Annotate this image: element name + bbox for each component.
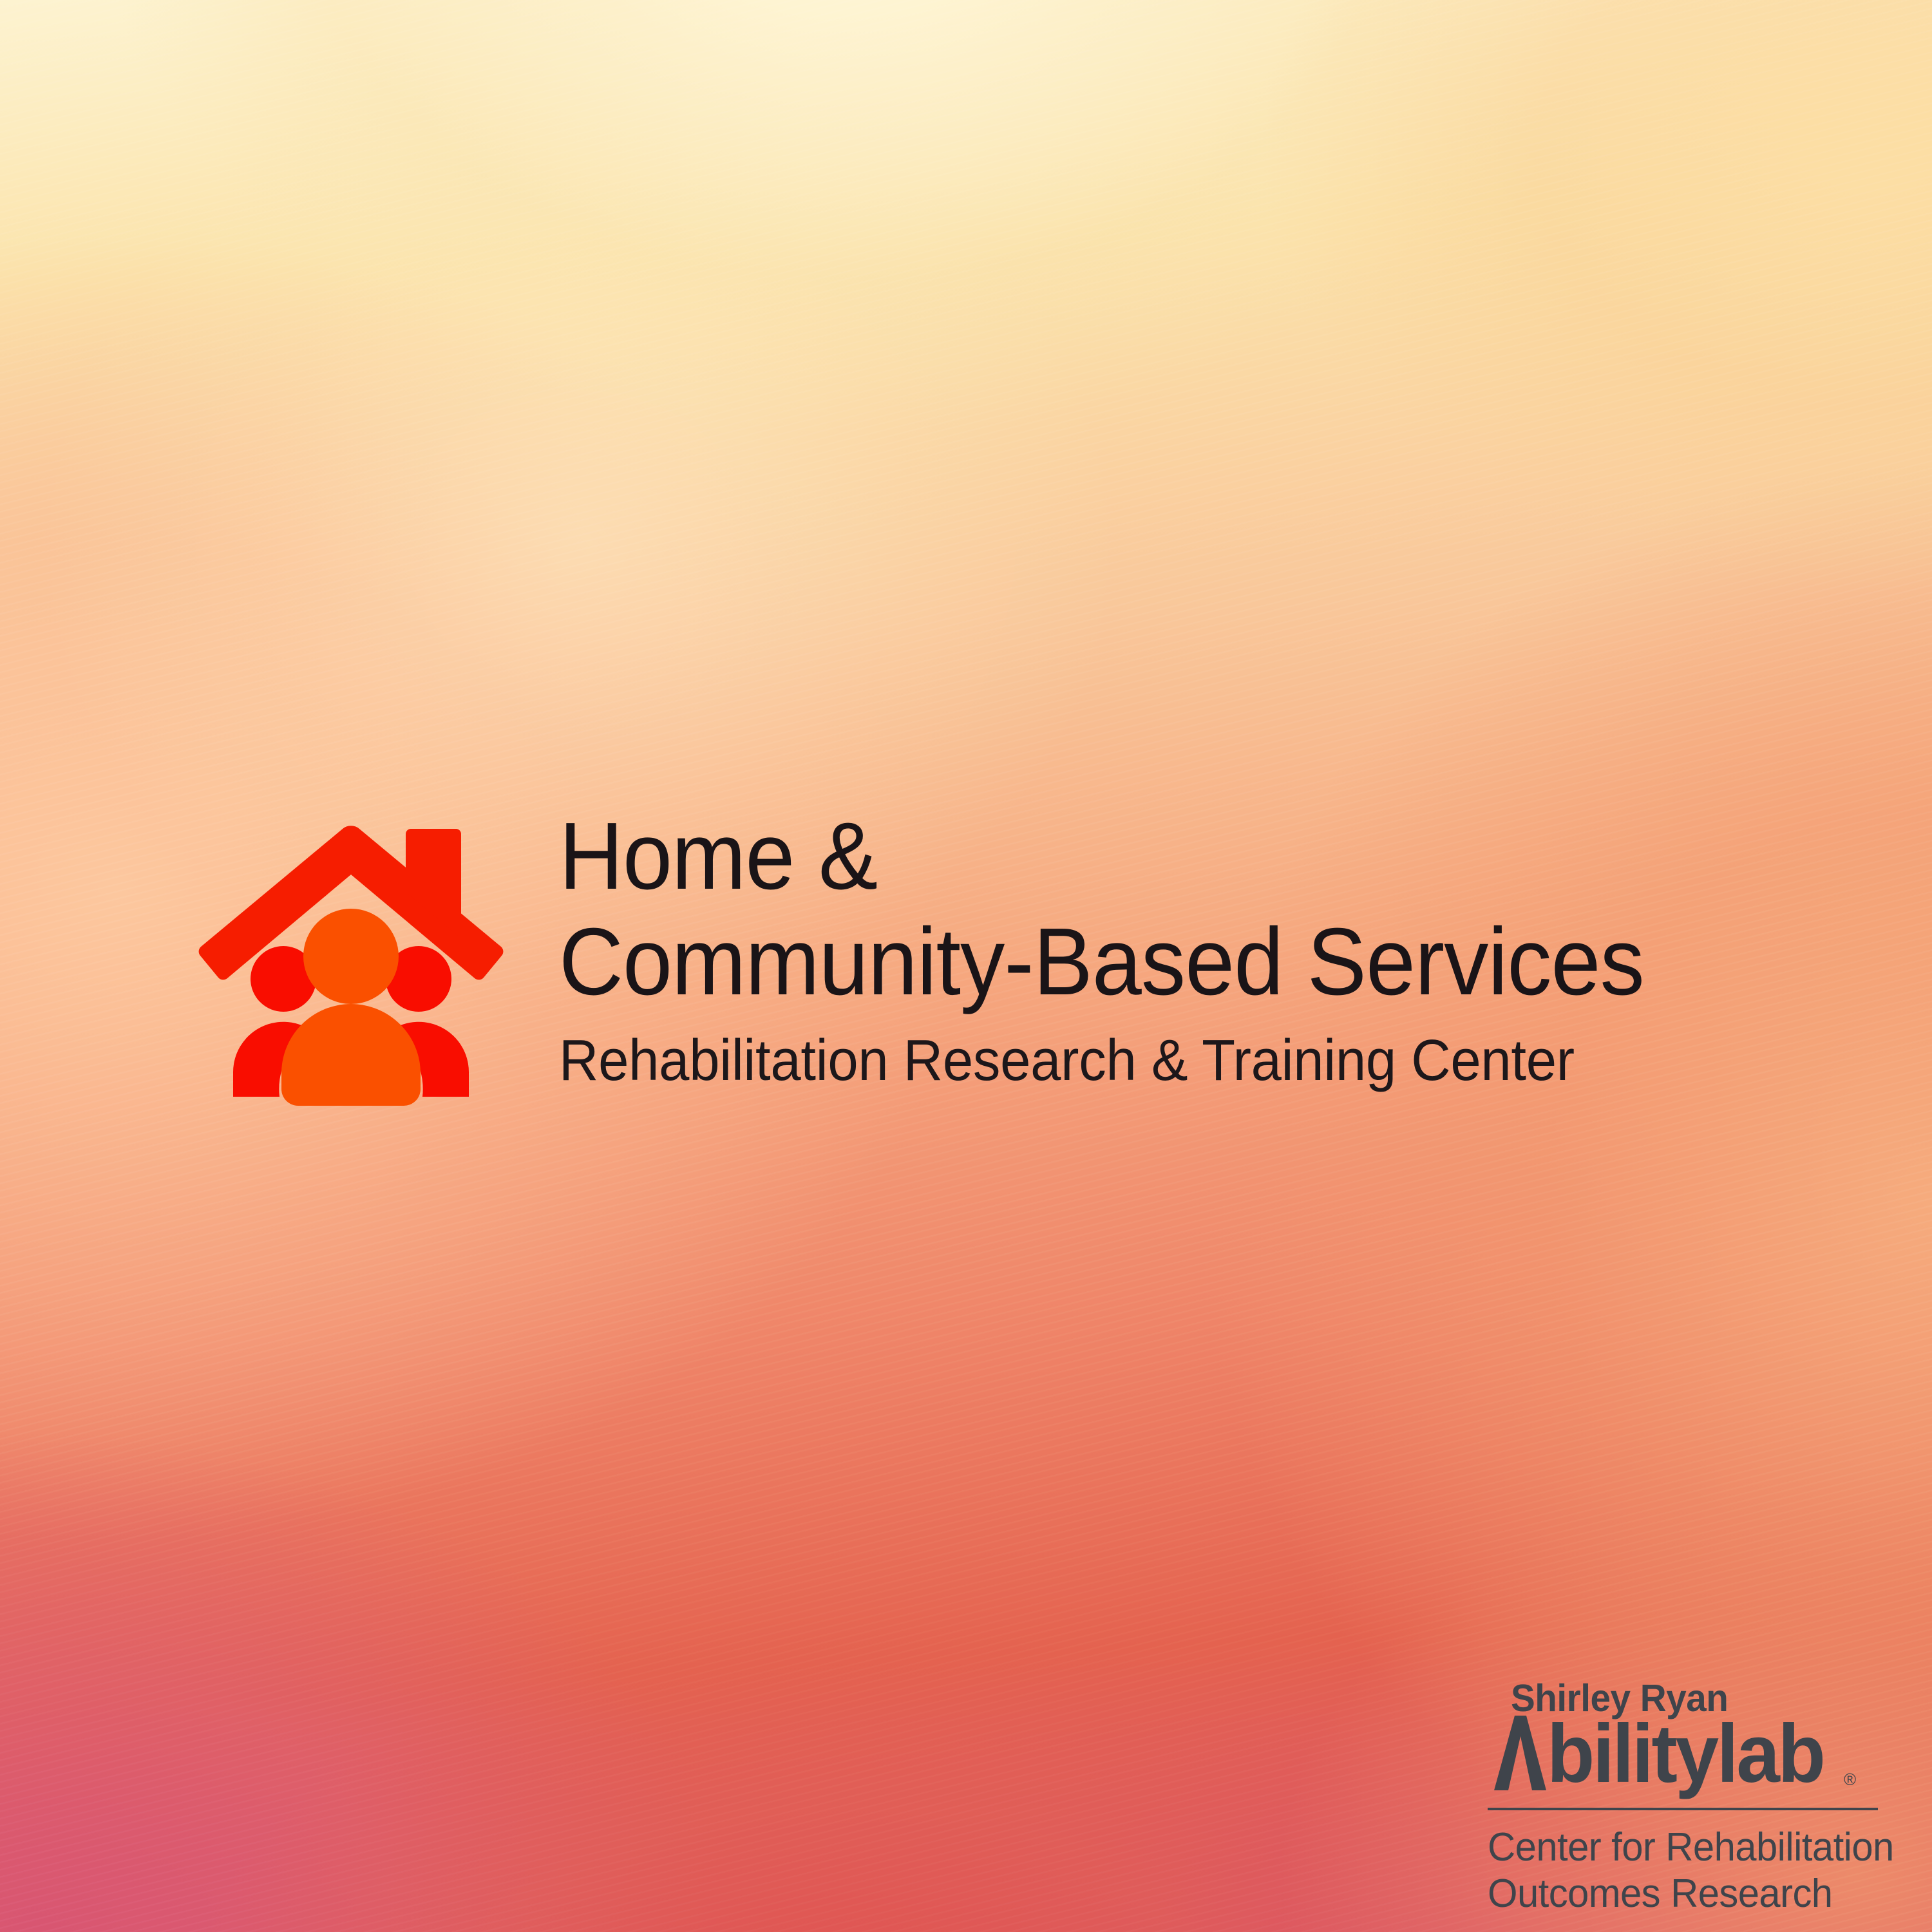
sralab-center-name-line-2: Outcomes Research bbox=[1488, 1871, 1894, 1917]
registered-trademark-icon: ® bbox=[1844, 1771, 1856, 1788]
title-block: Home & Community-Based Services Rehabili… bbox=[559, 808, 1783, 1092]
home-family-icon bbox=[193, 822, 509, 1112]
page-title-line-2: Community-Based Services bbox=[559, 914, 1703, 1010]
title-card-canvas: Home & Community-Based Services Rehabili… bbox=[0, 0, 1932, 1932]
sralab-divider-rule bbox=[1488, 1808, 1878, 1810]
page-subtitle: Rehabilitation Research & Training Cente… bbox=[559, 1030, 1716, 1092]
sralab-logo-lockup: Shirley Ryan bilitylab ® Center for Reha… bbox=[1481, 1674, 1887, 1913]
sralab-wordmark-text: bilitylab bbox=[1547, 1714, 1824, 1794]
page-title-line-1: Home & bbox=[559, 808, 1703, 905]
sralab-center-name: Center for Rehabilitation Outcomes Resea… bbox=[1488, 1824, 1894, 1917]
sralab-center-name-line-1: Center for Rehabilitation bbox=[1488, 1824, 1894, 1871]
brand-lockup: Home & Community-Based Services Rehabili… bbox=[193, 808, 1790, 1117]
sralab-wordmark: bilitylab ® bbox=[1493, 1714, 1856, 1799]
sralab-chevron-a-icon bbox=[1493, 1714, 1547, 1792]
